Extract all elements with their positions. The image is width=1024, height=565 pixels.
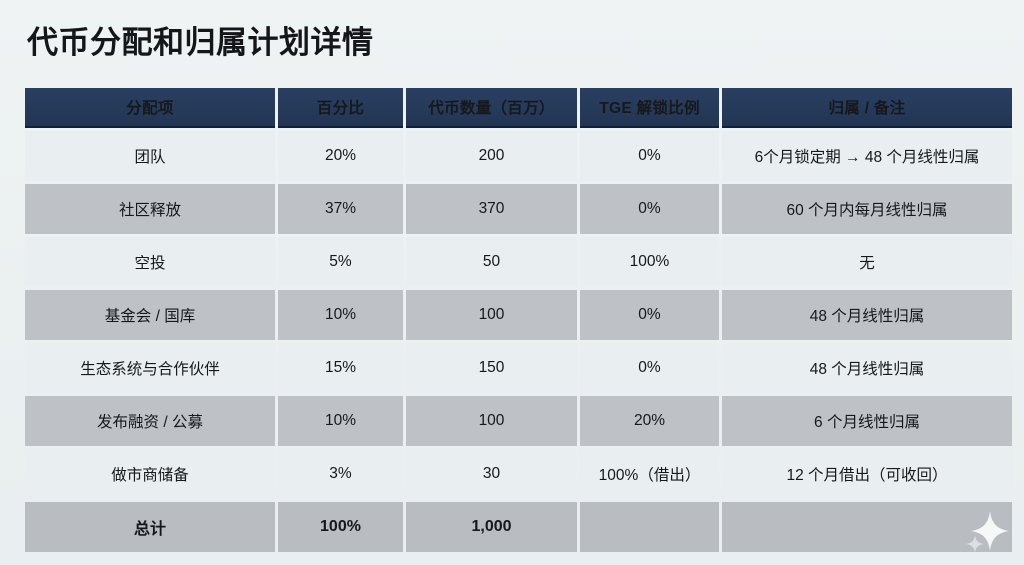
cell-amount-total: 1,000: [406, 502, 577, 552]
table-row: 空投 5% 50 100% 无: [25, 237, 1012, 287]
cell-tge-total: [580, 502, 719, 552]
cell-note: 6 个月线性归属: [722, 396, 1012, 446]
cell-amount: 370: [406, 184, 577, 234]
cell-item-total: 总计: [25, 502, 275, 552]
cell-note: 无: [722, 237, 1012, 287]
cell-percent: 37%: [278, 184, 403, 234]
cell-item: 生态系统与合作伙伴: [25, 343, 275, 393]
cell-percent: 10%: [278, 290, 403, 340]
cell-item: 团队: [25, 131, 275, 181]
column-header-amount: 代币数量（百万）: [406, 88, 577, 128]
cell-item: 基金会 / 国库: [25, 290, 275, 340]
cell-item: 做市商储备: [25, 449, 275, 499]
cell-tge: 0%: [580, 131, 719, 181]
cell-item: 社区释放: [25, 184, 275, 234]
cell-item: 空投: [25, 237, 275, 287]
cell-amount: 30: [406, 449, 577, 499]
cell-tge: 100%: [580, 237, 719, 287]
cell-note: 12 个月借出（可收回）: [722, 449, 1012, 499]
cell-percent: 15%: [278, 343, 403, 393]
cell-amount: 100: [406, 396, 577, 446]
page-title: 代币分配和归属计划详情: [27, 23, 374, 63]
allocation-table-container: 分配项 百分比 代币数量（百万） TGE 解锁比例 归属 / 备注 团队 20%…: [25, 88, 1000, 552]
slide-canvas: 代币分配和归属计划详情 分配项 百分比 代币数量（百万） TGE 解锁比例 归属…: [0, 0, 1024, 565]
cell-note: 48 个月线性归属: [722, 290, 1012, 340]
table-row-total: 总计 100% 1,000: [25, 502, 1012, 552]
cell-percent: 3%: [278, 449, 403, 499]
cell-tge: 0%: [580, 184, 719, 234]
column-header-percent: 百分比: [278, 88, 403, 128]
column-header-item: 分配项: [25, 88, 275, 128]
column-header-note: 归属 / 备注: [722, 88, 1012, 128]
cell-percent: 5%: [278, 237, 403, 287]
column-header-tge: TGE 解锁比例: [580, 88, 719, 128]
table-row: 基金会 / 国库 10% 100 0% 48 个月线性归属: [25, 290, 1012, 340]
table-row: 团队 20% 200 0% 6个月锁定期 → 48 个月线性归属: [25, 131, 1012, 181]
table-row: 生态系统与合作伙伴 15% 150 0% 48 个月线性归属: [25, 343, 1012, 393]
cell-tge: 100%（借出）: [580, 449, 719, 499]
cell-amount: 150: [406, 343, 577, 393]
cell-amount: 200: [406, 131, 577, 181]
table-body: 团队 20% 200 0% 6个月锁定期 → 48 个月线性归属 社区释放 37…: [25, 131, 1012, 552]
cell-tge: 0%: [580, 290, 719, 340]
cell-tge: 20%: [580, 396, 719, 446]
cell-note: 48 个月线性归属: [722, 343, 1012, 393]
cell-percent: 20%: [278, 131, 403, 181]
cell-percent: 10%: [278, 396, 403, 446]
table-header-row: 分配项 百分比 代币数量（百万） TGE 解锁比例 归属 / 备注: [25, 88, 1012, 128]
cell-item: 发布融资 / 公募: [25, 396, 275, 446]
cell-amount: 100: [406, 290, 577, 340]
allocation-table: 分配项 百分比 代币数量（百万） TGE 解锁比例 归属 / 备注 团队 20%…: [22, 85, 1015, 555]
table-header: 分配项 百分比 代币数量（百万） TGE 解锁比例 归属 / 备注: [25, 88, 1012, 128]
cell-percent-total: 100%: [278, 502, 403, 552]
cell-tge: 0%: [580, 343, 719, 393]
cell-note: 6个月锁定期 → 48 个月线性归属: [722, 131, 1012, 181]
cell-amount: 50: [406, 237, 577, 287]
table-row: 做市商储备 3% 30 100%（借出） 12 个月借出（可收回）: [25, 449, 1012, 499]
cell-note-total: [722, 502, 1012, 552]
cell-note: 60 个月内每月线性归属: [722, 184, 1012, 234]
table-row: 发布融资 / 公募 10% 100 20% 6 个月线性归属: [25, 396, 1012, 446]
table-row: 社区释放 37% 370 0% 60 个月内每月线性归属: [25, 184, 1012, 234]
